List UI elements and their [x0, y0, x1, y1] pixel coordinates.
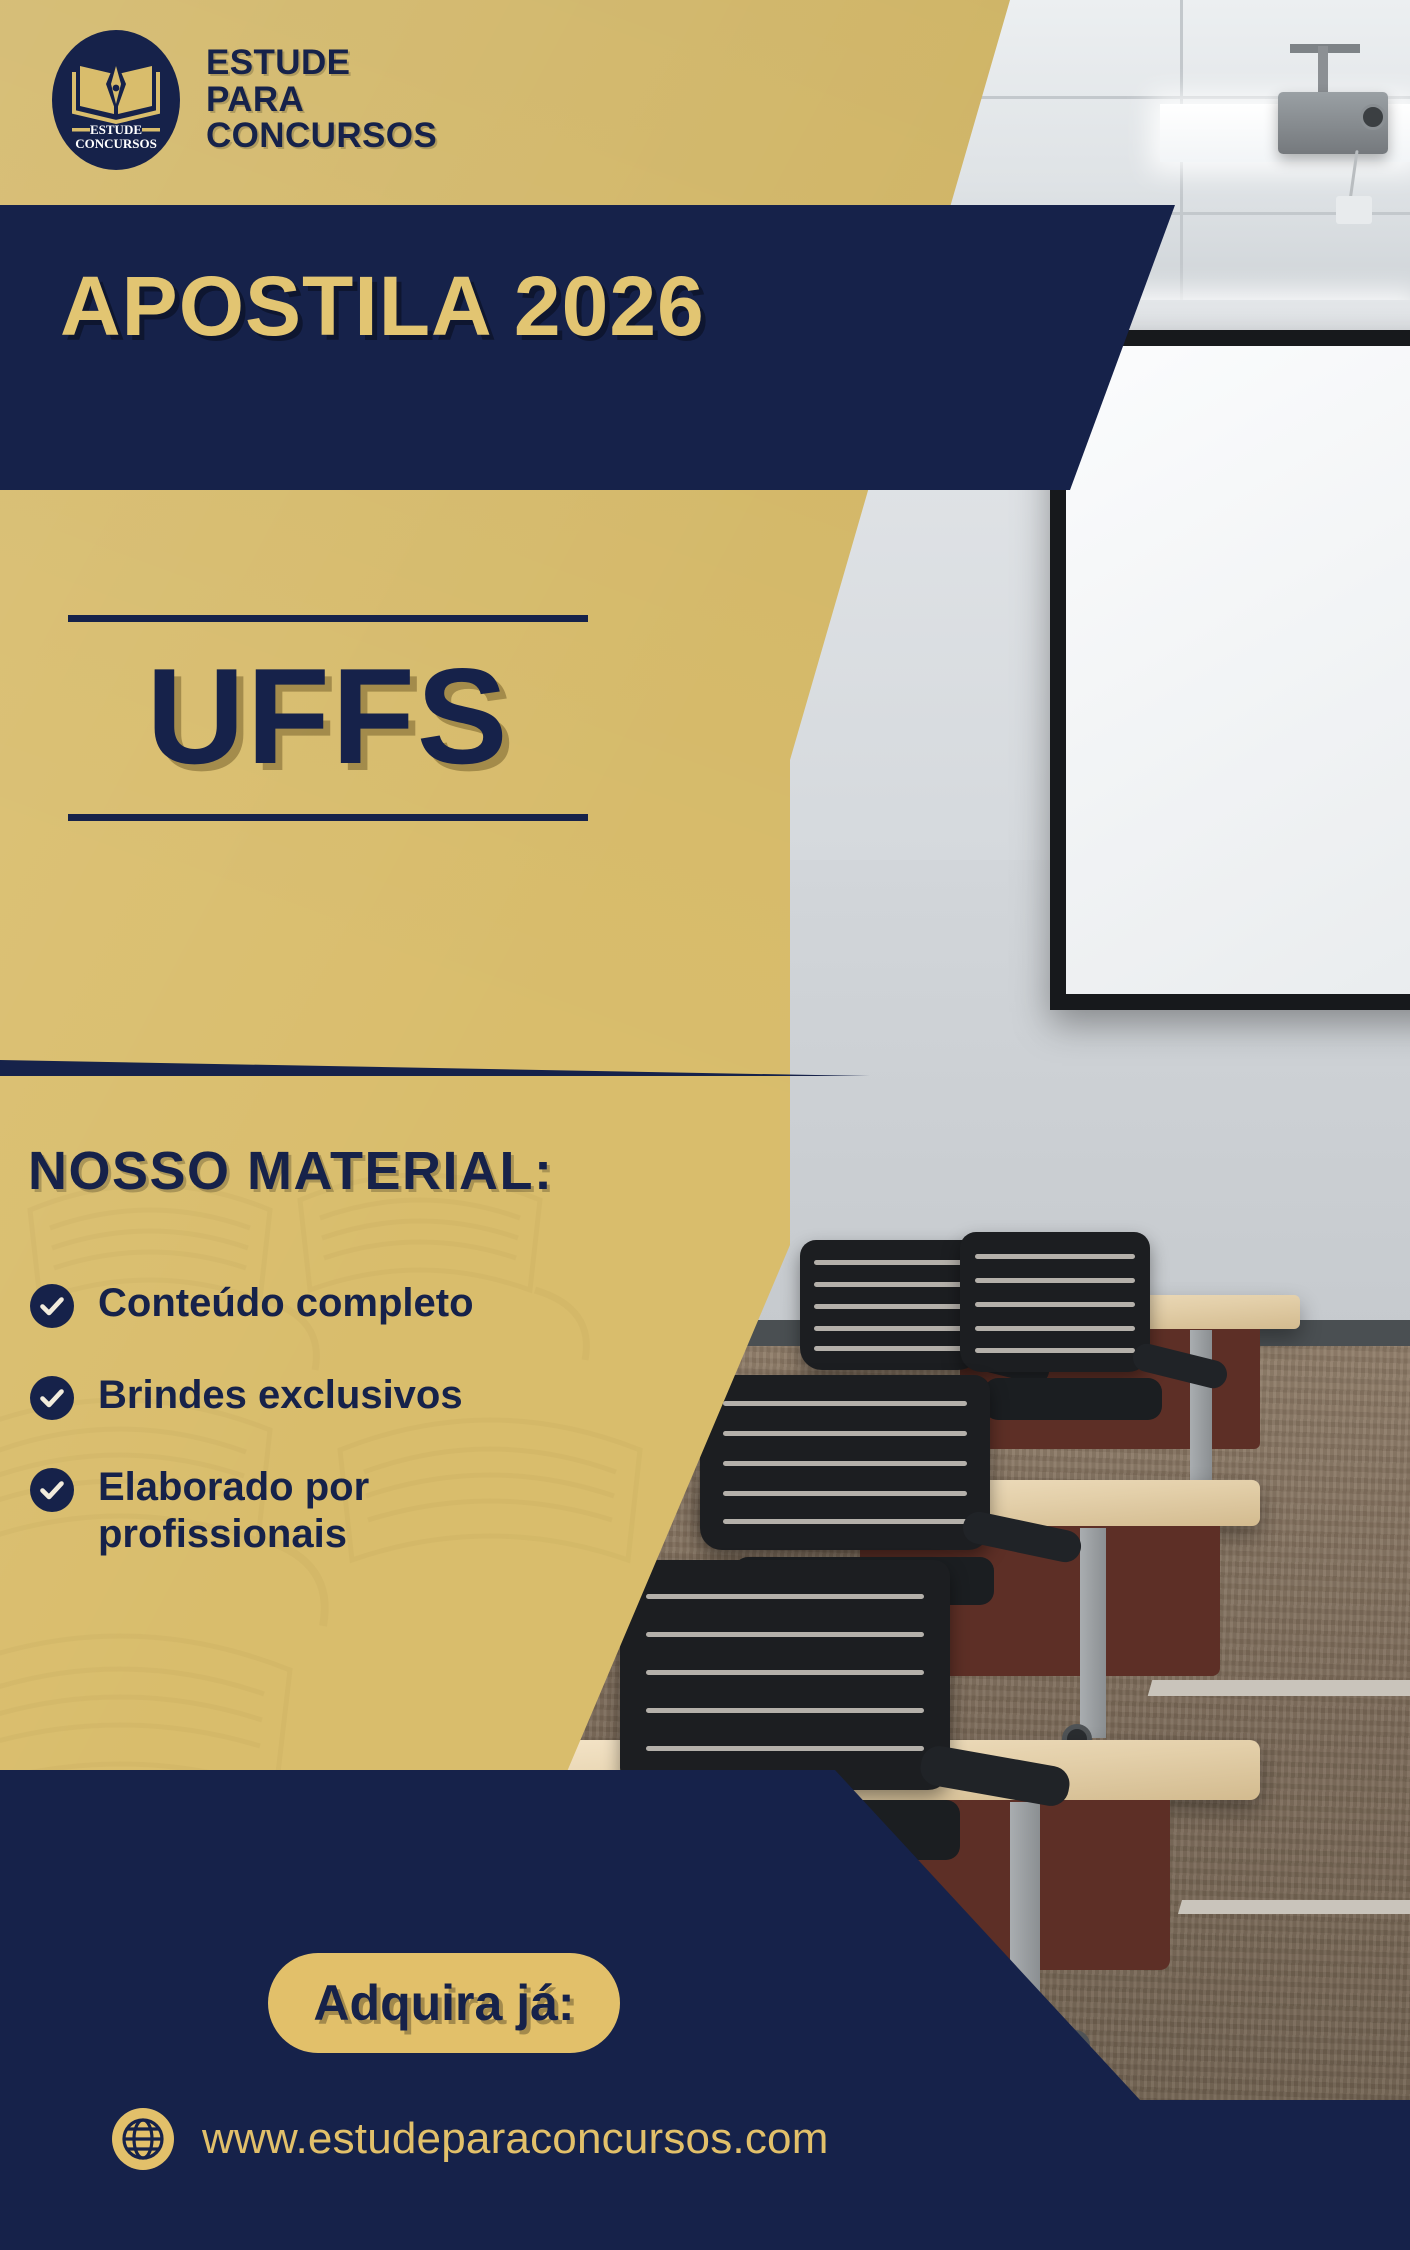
chair-backrest [800, 1240, 980, 1370]
benefit-label: Brindes exclusivos [98, 1372, 463, 1419]
svg-text:ESTUDE: ESTUDE [90, 122, 142, 137]
chair-backrest [620, 1560, 950, 1790]
website-url: www.estudeparaconcursos.com [202, 2114, 829, 2164]
brand-name-line-3: CONCURSOS [206, 118, 437, 154]
logo-badge: ESTUDE CONCURSOS [52, 30, 180, 170]
projector-lens [1360, 104, 1386, 130]
brand-name-line-1: ESTUDE [206, 45, 437, 81]
buy-now-label: Adquira já: [313, 1974, 574, 2032]
projection-screen [1050, 330, 1410, 1010]
headline-rule-top [68, 615, 588, 622]
benefit-item: Brindes exclusivos [30, 1372, 590, 1420]
floor-strip [1148, 1680, 1410, 1696]
exam-headline-block: UFFS [68, 615, 588, 821]
projector-mount-pole [1318, 46, 1328, 94]
promo-poster: ESTUDE CONCURSOS ESTUDE PARA CONCURSOS A… [0, 0, 1410, 2250]
brand-name-line-2: PARA [206, 82, 437, 118]
globe-icon [112, 2108, 174, 2170]
check-circle-icon [30, 1376, 74, 1420]
desk-leg [1080, 1528, 1106, 1738]
check-circle-icon [30, 1468, 74, 1512]
exam-name: UFFS [68, 622, 588, 814]
brand-wordmark: ESTUDE PARA CONCURSOS [206, 45, 437, 154]
chair-backrest [960, 1232, 1150, 1372]
projector-junction-box [1336, 196, 1372, 224]
floor-strip [1178, 1900, 1410, 1914]
benefit-label: Conteúdo completo [98, 1280, 474, 1327]
chair-seat [984, 1378, 1162, 1420]
svg-text:CONCURSOS: CONCURSOS [75, 136, 157, 150]
open-book-with-pen-nib-icon: ESTUDE CONCURSOS [68, 50, 164, 150]
benefit-item: Conteúdo completo [30, 1280, 590, 1328]
buy-now-button[interactable]: Adquira já: [268, 1953, 620, 2053]
benefit-label: Elaborado por profissionais [98, 1464, 428, 1558]
projection-screen-surface [1066, 346, 1410, 994]
benefits-list: Conteúdo completo Brindes exclusivos Ela… [30, 1280, 590, 1558]
benefit-item: Elaborado por profissionais [30, 1464, 590, 1558]
banner-title: APOSTILA 2026 [60, 258, 705, 355]
headline-rule-bottom [68, 814, 588, 821]
chair-backrest [700, 1375, 990, 1550]
website-row[interactable]: www.estudeparaconcursos.com [112, 2108, 829, 2170]
check-circle-icon [30, 1284, 74, 1328]
section-title: NOSSO MATERIAL: [28, 1140, 553, 1202]
brand-logo[interactable]: ESTUDE CONCURSOS ESTUDE PARA CONCURSOS [52, 30, 437, 170]
